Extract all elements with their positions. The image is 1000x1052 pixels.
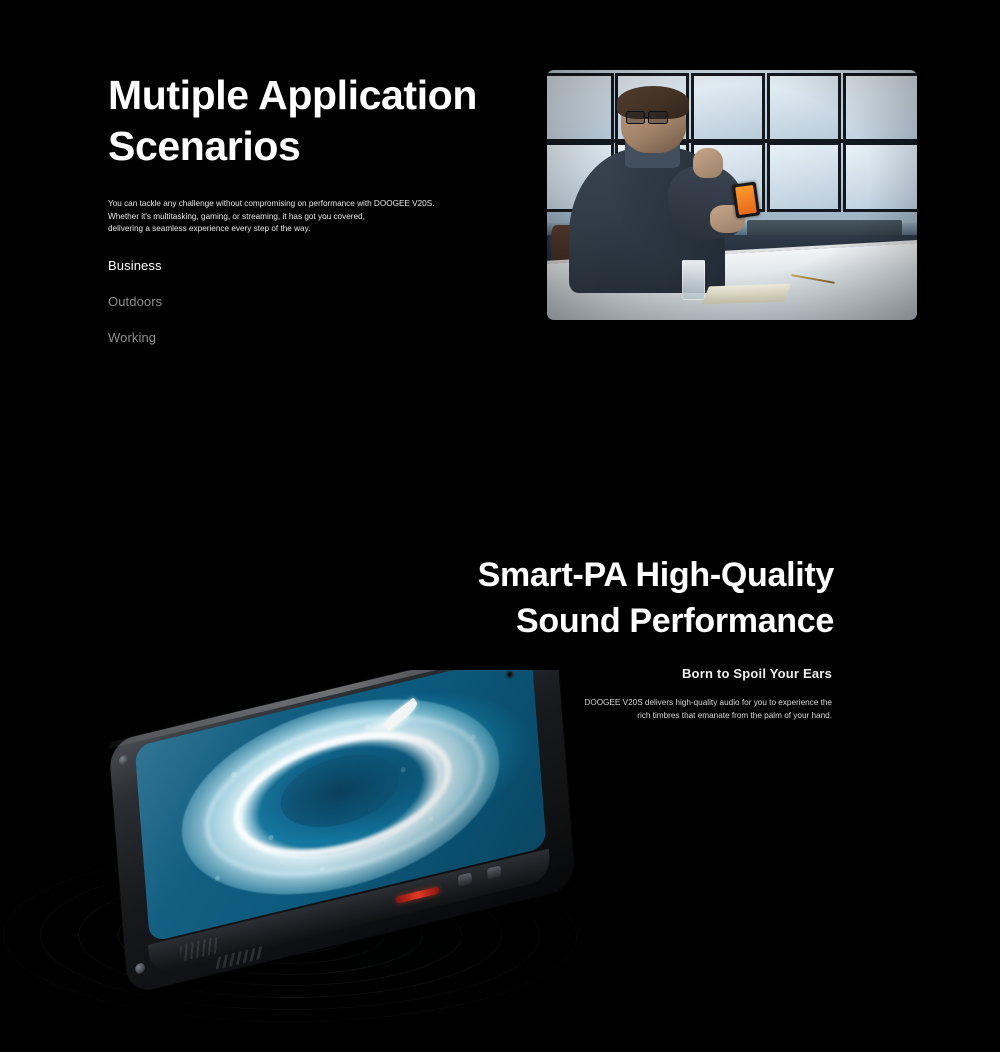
page-title-line-2: Scenarios xyxy=(108,121,528,172)
description-line-1: You can tackle any challenge without com… xyxy=(108,198,438,211)
audio-title-line-2: Sound Performance xyxy=(0,598,834,644)
product-page: Mutiple Application Scenarios You can ta… xyxy=(0,0,1000,1052)
business-scenario-photo xyxy=(547,70,917,320)
scenario-tab-list: Business Outdoors Working xyxy=(108,258,528,346)
scenario-tab-business[interactable]: Business xyxy=(108,258,528,274)
page-title: Mutiple Application Scenarios xyxy=(108,70,528,172)
phone-corner-bolt xyxy=(118,754,129,766)
audio-title-line-1: Smart-PA High-Quality xyxy=(478,556,834,594)
description-line-2: Whether it's multitasking, gaming, or st… xyxy=(108,211,438,224)
page-title-line-1: Mutiple Application xyxy=(108,72,477,118)
application-scenarios-description: You can tackle any challenge without com… xyxy=(108,198,438,236)
scenario-tab-outdoors[interactable]: Outdoors xyxy=(108,294,528,310)
smart-pa-audio-section: Smart-PA High-Quality Sound Performance … xyxy=(0,400,1000,1052)
phone-corner-bolt xyxy=(135,962,146,974)
audio-title: Smart-PA High-Quality Sound Performance xyxy=(0,552,1000,644)
scenario-tab-working[interactable]: Working xyxy=(108,330,528,346)
phone-hero-stage xyxy=(0,670,640,1052)
application-scenarios-section: Mutiple Application Scenarios You can ta… xyxy=(0,0,1000,400)
photo-vignette xyxy=(547,70,917,320)
application-scenarios-copy: Mutiple Application Scenarios You can ta… xyxy=(108,70,528,366)
description-line-3: delivering a seamless experience every s… xyxy=(108,223,438,236)
